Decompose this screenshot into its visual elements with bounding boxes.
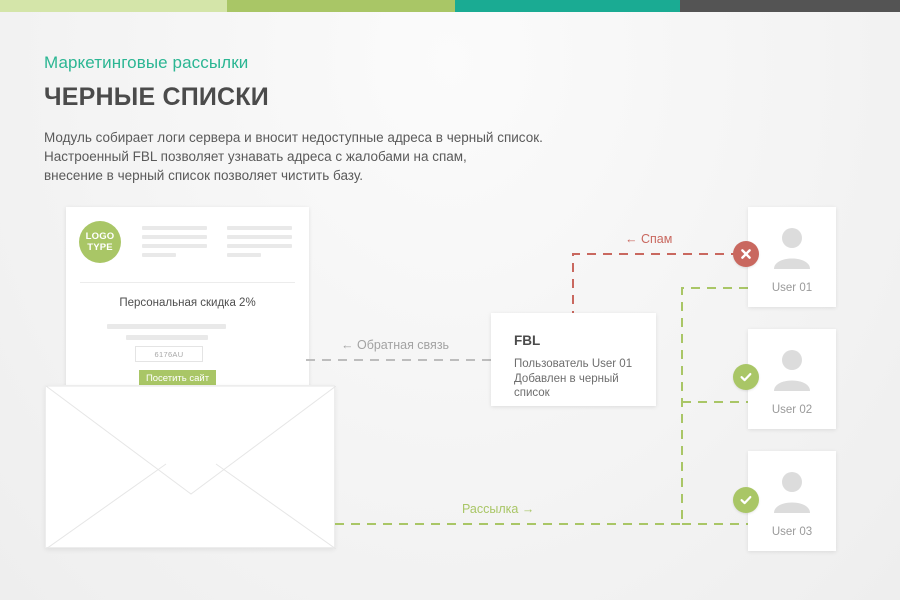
- placeholder-bar: [142, 226, 207, 230]
- envelope-flap: [46, 386, 336, 549]
- placeholder-bar: [227, 226, 292, 230]
- placeholder-bar: [126, 335, 208, 340]
- email-divider: [80, 282, 295, 283]
- spam-flow-label: ← Спам: [625, 232, 672, 246]
- description-line-3: внесение в черный список позволяет чисти…: [44, 166, 543, 185]
- check-icon: [733, 487, 759, 513]
- fbl-body-line-3: список: [514, 386, 646, 401]
- placeholder-bar: [142, 244, 207, 248]
- page-description: Модуль собирает логи сервера и вносит не…: [44, 128, 543, 185]
- top-color-bar: [0, 0, 900, 12]
- fbl-card-title: FBL: [514, 333, 540, 348]
- page-title: ЧЕРНЫЕ СПИСКИ: [44, 83, 269, 112]
- user-avatar-icon: [769, 347, 815, 398]
- brand-logo: LOGO TYPE: [79, 221, 121, 263]
- email-header-column-left: [142, 226, 207, 262]
- email-header-column-right: [227, 226, 292, 262]
- x-icon: [733, 241, 759, 267]
- fbl-info-card: FBL Пользователь User 01 Добавлен в черн…: [491, 313, 656, 406]
- email-promo-text: Персональная скидка 2%: [66, 297, 309, 309]
- description-line-2: Настроенный FBL позволяет узнавать адрес…: [44, 147, 543, 166]
- fbl-body-line-1: Пользователь User 01: [514, 357, 646, 372]
- description-line-1: Модуль собирает логи сервера и вносит не…: [44, 128, 543, 147]
- spam-flow-line: [573, 254, 740, 313]
- page-kicker: Маркетинговые рассылки: [44, 53, 248, 73]
- user-card-03[interactable]: User 03: [748, 451, 836, 551]
- placeholder-bar: [142, 253, 176, 257]
- check-icon: [733, 364, 759, 390]
- user-card-02[interactable]: User 02: [748, 329, 836, 429]
- placeholder-bar: [227, 253, 261, 257]
- topbar-segment-1: [0, 0, 227, 12]
- placeholder-bar: [227, 244, 292, 248]
- placeholder-bar: [107, 324, 226, 329]
- placeholder-bar: [227, 235, 292, 239]
- user-avatar-icon: [769, 225, 815, 276]
- user-name-label: User 03: [748, 526, 836, 538]
- user-name-label: User 02: [748, 404, 836, 416]
- envelope-graphic: [45, 385, 335, 548]
- topbar-segment-4: [680, 0, 900, 12]
- feedback-flow-label: ← Обратная связь: [341, 338, 449, 352]
- user-avatar-icon: [769, 469, 815, 520]
- topbar-segment-2: [227, 0, 455, 12]
- fbl-card-body: Пользователь User 01 Добавлен в черный с…: [514, 357, 646, 401]
- topbar-segment-3: [455, 0, 680, 12]
- logo-line-1: LOGO: [86, 231, 115, 242]
- user-card-01[interactable]: User 01: [748, 207, 836, 307]
- user-name-label: User 01: [748, 282, 836, 294]
- coupon-code: 6176AU: [135, 346, 203, 362]
- logo-line-2: TYPE: [87, 242, 113, 253]
- placeholder-bar: [142, 235, 207, 239]
- send-flow-label: Рассылка →: [462, 502, 534, 516]
- fbl-body-line-2: Добавлен в черный: [514, 372, 646, 387]
